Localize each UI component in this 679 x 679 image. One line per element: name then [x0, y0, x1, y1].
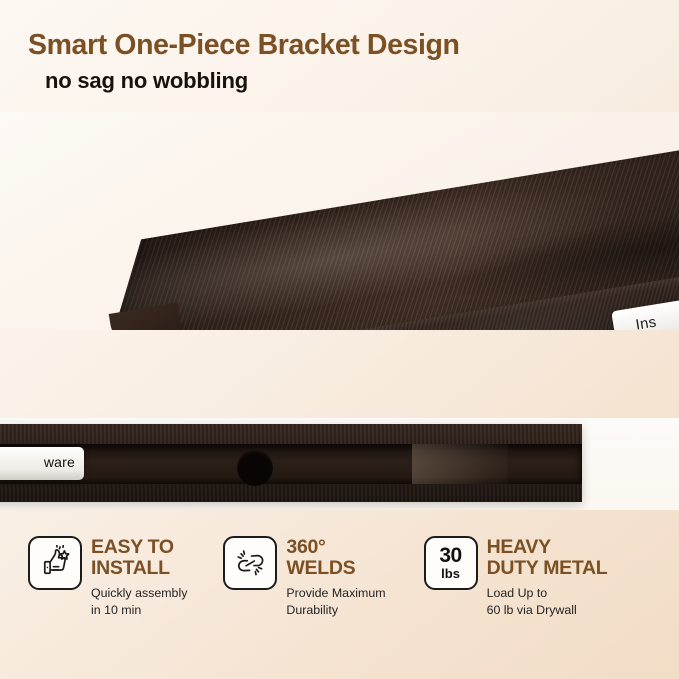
- page-subtitle: no sag no wobbling: [45, 68, 588, 93]
- feature-title-line1: EASY TO: [91, 537, 187, 558]
- feature-title-line1: HEAVY: [487, 537, 608, 558]
- feature-texts: 360° WELDS Provide Maximum Durability: [286, 536, 385, 618]
- weight-badge-number: 30: [439, 545, 461, 566]
- thumbs-up-icon: [28, 536, 82, 590]
- feature-desc-line2: in 10 min: [91, 602, 187, 619]
- weight-badge: 30 lbs: [424, 536, 478, 590]
- photo-top-scene: Ins: [0, 112, 679, 330]
- shelf-underside-body: [0, 424, 582, 502]
- feature-360-welds: 360° WELDS Provide Maximum Durability: [223, 536, 385, 618]
- hardware-card-bottom: ware: [0, 447, 84, 480]
- weight-badge-unit: lbs: [441, 567, 460, 582]
- shelf-grain-highlight: [412, 444, 508, 484]
- feature-heavy-duty-metal: 30 lbs HEAVY DUTY METAL Load Up to 60 lb…: [424, 536, 608, 618]
- feature-title-line2: WELDS: [286, 558, 385, 579]
- hardware-card-bottom-text: ware: [44, 454, 75, 470]
- shelf-mounting-hole: [237, 450, 273, 486]
- feature-desc-line1: Provide Maximum: [286, 585, 385, 602]
- chain-weld-icon: [223, 536, 277, 590]
- instruction-card-top-text: Ins: [634, 313, 657, 330]
- feature-badges: EASY TO INSTALL Quickly assembly in 10 m…: [0, 536, 679, 618]
- feature-title-line1: 360°: [286, 537, 385, 558]
- feature-title-line2: INSTALL: [91, 558, 187, 579]
- page-title: Smart One-Piece Bracket Design: [28, 30, 588, 61]
- product-photo-shelf-underside: ware: [0, 418, 679, 510]
- feature-desc-line1: Load Up to: [487, 585, 608, 602]
- product-feature-page: Smart One-Piece Bracket Design no sag no…: [0, 0, 679, 679]
- feature-texts: HEAVY DUTY METAL Load Up to 60 lb via Dr…: [487, 536, 608, 618]
- feature-easy-to-install: EASY TO INSTALL Quickly assembly in 10 m…: [28, 536, 187, 618]
- feature-texts: EASY TO INSTALL Quickly assembly in 10 m…: [91, 536, 187, 618]
- headline-block: Smart One-Piece Bracket Design no sag no…: [28, 30, 588, 94]
- feature-title-line2: DUTY METAL: [487, 558, 608, 579]
- feature-desc-line1: Quickly assembly: [91, 585, 187, 602]
- product-photo-angled-shelf: Ins: [0, 112, 679, 330]
- feature-desc-line2: Durability: [286, 602, 385, 619]
- feature-desc-line2: 60 lb via Drywall: [487, 602, 608, 619]
